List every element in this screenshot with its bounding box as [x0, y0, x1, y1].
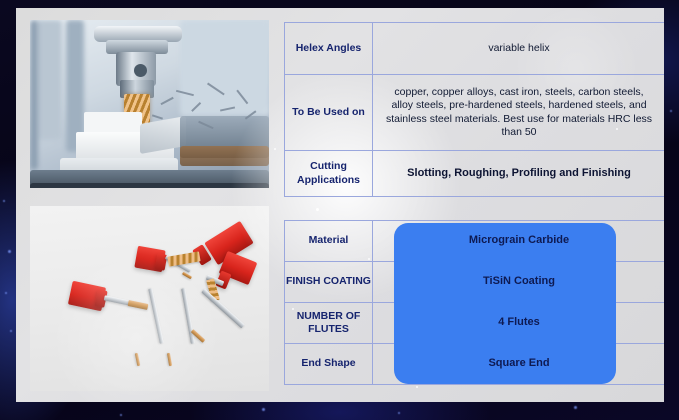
table-row: Cutting Applications Slotting, Roughing,… [285, 151, 665, 197]
card-sparkle [274, 148, 276, 150]
spark-dot [10, 330, 12, 332]
table-row: To Be Used on copper, copper alloys, cas… [285, 75, 665, 151]
spark-dot [8, 250, 11, 253]
row-label-finish-coating: FINISH COATING [285, 262, 373, 303]
row-value-finish-coating: TiSiN Coating [373, 262, 665, 303]
row-label-helix-angles: Helex Angles [285, 23, 373, 75]
row-label-end-shape: End Shape [285, 344, 373, 385]
row-label-cutting-applications: Cutting Applications [285, 151, 373, 197]
card-sparkle [416, 386, 418, 388]
card-sparkle [316, 208, 319, 211]
spec-table-bottom: Material Micrograin Carbide FINISH COATI… [284, 220, 664, 385]
spec-table-top: Helex Angles variable helix To Be Used o… [284, 22, 664, 197]
row-value-end-shape: Square End [373, 344, 665, 385]
cnc-milling-photo [30, 20, 269, 188]
row-value-helix-angles: variable helix [373, 23, 665, 75]
table-row: End Shape Square End [285, 344, 665, 385]
endmill-bits-photo-art [30, 206, 269, 391]
row-label-material: Material [285, 221, 373, 262]
spark-dot [574, 406, 577, 409]
row-value-cutting-applications: Slotting, Roughing, Profiling and Finish… [373, 151, 665, 197]
spark-dot [120, 414, 122, 416]
slide-canvas: Helex Angles variable helix To Be Used o… [0, 0, 679, 420]
spark-dot [670, 110, 672, 112]
content-card: Helex Angles variable helix To Be Used o… [16, 8, 664, 402]
endmill-bits-photo [30, 206, 269, 391]
row-value-number-of-flutes: 4 Flutes [373, 303, 665, 344]
spark-dot [398, 412, 400, 414]
table-row: NUMBER OF FLUTES 4 Flutes [285, 303, 665, 344]
spark-dot [5, 292, 7, 294]
cnc-milling-photo-art [30, 20, 269, 188]
row-label-to-be-used-on: To Be Used on [285, 75, 373, 151]
table-row: Material Micrograin Carbide [285, 221, 665, 262]
spark-dot [3, 200, 5, 202]
row-value-to-be-used-on: copper, copper alloys, cast iron, steels… [373, 75, 665, 151]
row-label-number-of-flutes: NUMBER OF FLUTES [285, 303, 373, 344]
spark-dot [262, 408, 265, 411]
table-row: Helex Angles variable helix [285, 23, 665, 75]
row-value-material: Micrograin Carbide [373, 221, 665, 262]
table-row: FINISH COATING TiSiN Coating [285, 262, 665, 303]
